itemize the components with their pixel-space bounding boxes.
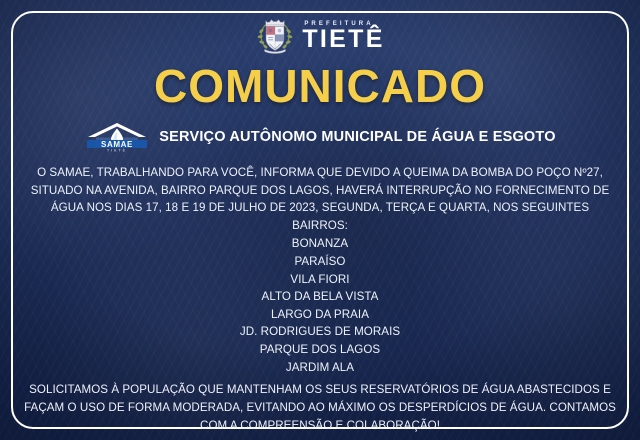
samae-logo-icon: SAMAE TIETÊ: [84, 122, 150, 152]
organization-header: SAMAE TIETÊ SERVIÇO AUTÔNOMO MUNICIPAL D…: [84, 122, 555, 152]
list-item: PARAÍSO: [240, 253, 400, 271]
neighborhood-list: BONANZAPARAÍSOVILA FIORIALTO DA BELA VIS…: [240, 235, 400, 376]
prefeitura-wordmark: PREFEITURA TIETÊ: [302, 19, 384, 52]
page-title: COMUNICADO: [154, 63, 486, 109]
announcement-poster: PREFEITURA TIETÊ COMUNICADO SAMAE: [0, 0, 640, 440]
city-name-row: TIETÊ: [302, 28, 384, 52]
intro-paragraph: O SAMAE, TRABALHANDO PARA VOCÊ, INFORMA …: [22, 164, 618, 234]
svg-text:SAMAE: SAMAE: [101, 140, 133, 149]
coat-of-arms-icon: [255, 15, 295, 55]
poster-content: PREFEITURA TIETÊ COMUNICADO SAMAE: [0, 0, 640, 440]
list-item: LARGO DA PRAIA: [240, 306, 400, 324]
list-item: ALTO DA BELA VISTA: [240, 288, 400, 306]
list-item: PARQUE DOS LAGOS: [240, 341, 400, 359]
closing-paragraph: SOLICITAMOS À POPULAÇÃO QUE MANTENHAM OS…: [22, 381, 618, 434]
list-item: JD. RODRIGUES DE MORAIS: [240, 323, 400, 341]
list-item: JARDIM ALA: [240, 359, 400, 377]
svg-text:TIETÊ: TIETÊ: [107, 148, 127, 153]
prefeitura-header: PREFEITURA TIETÊ: [255, 14, 384, 56]
list-item: BONANZA: [240, 235, 400, 253]
organization-name: SERVIÇO AUTÔNOMO MUNICIPAL DE ÁGUA E ESG…: [159, 129, 555, 145]
city-name: TIETÊ: [302, 28, 384, 52]
list-item: VILA FIORI: [240, 271, 400, 289]
